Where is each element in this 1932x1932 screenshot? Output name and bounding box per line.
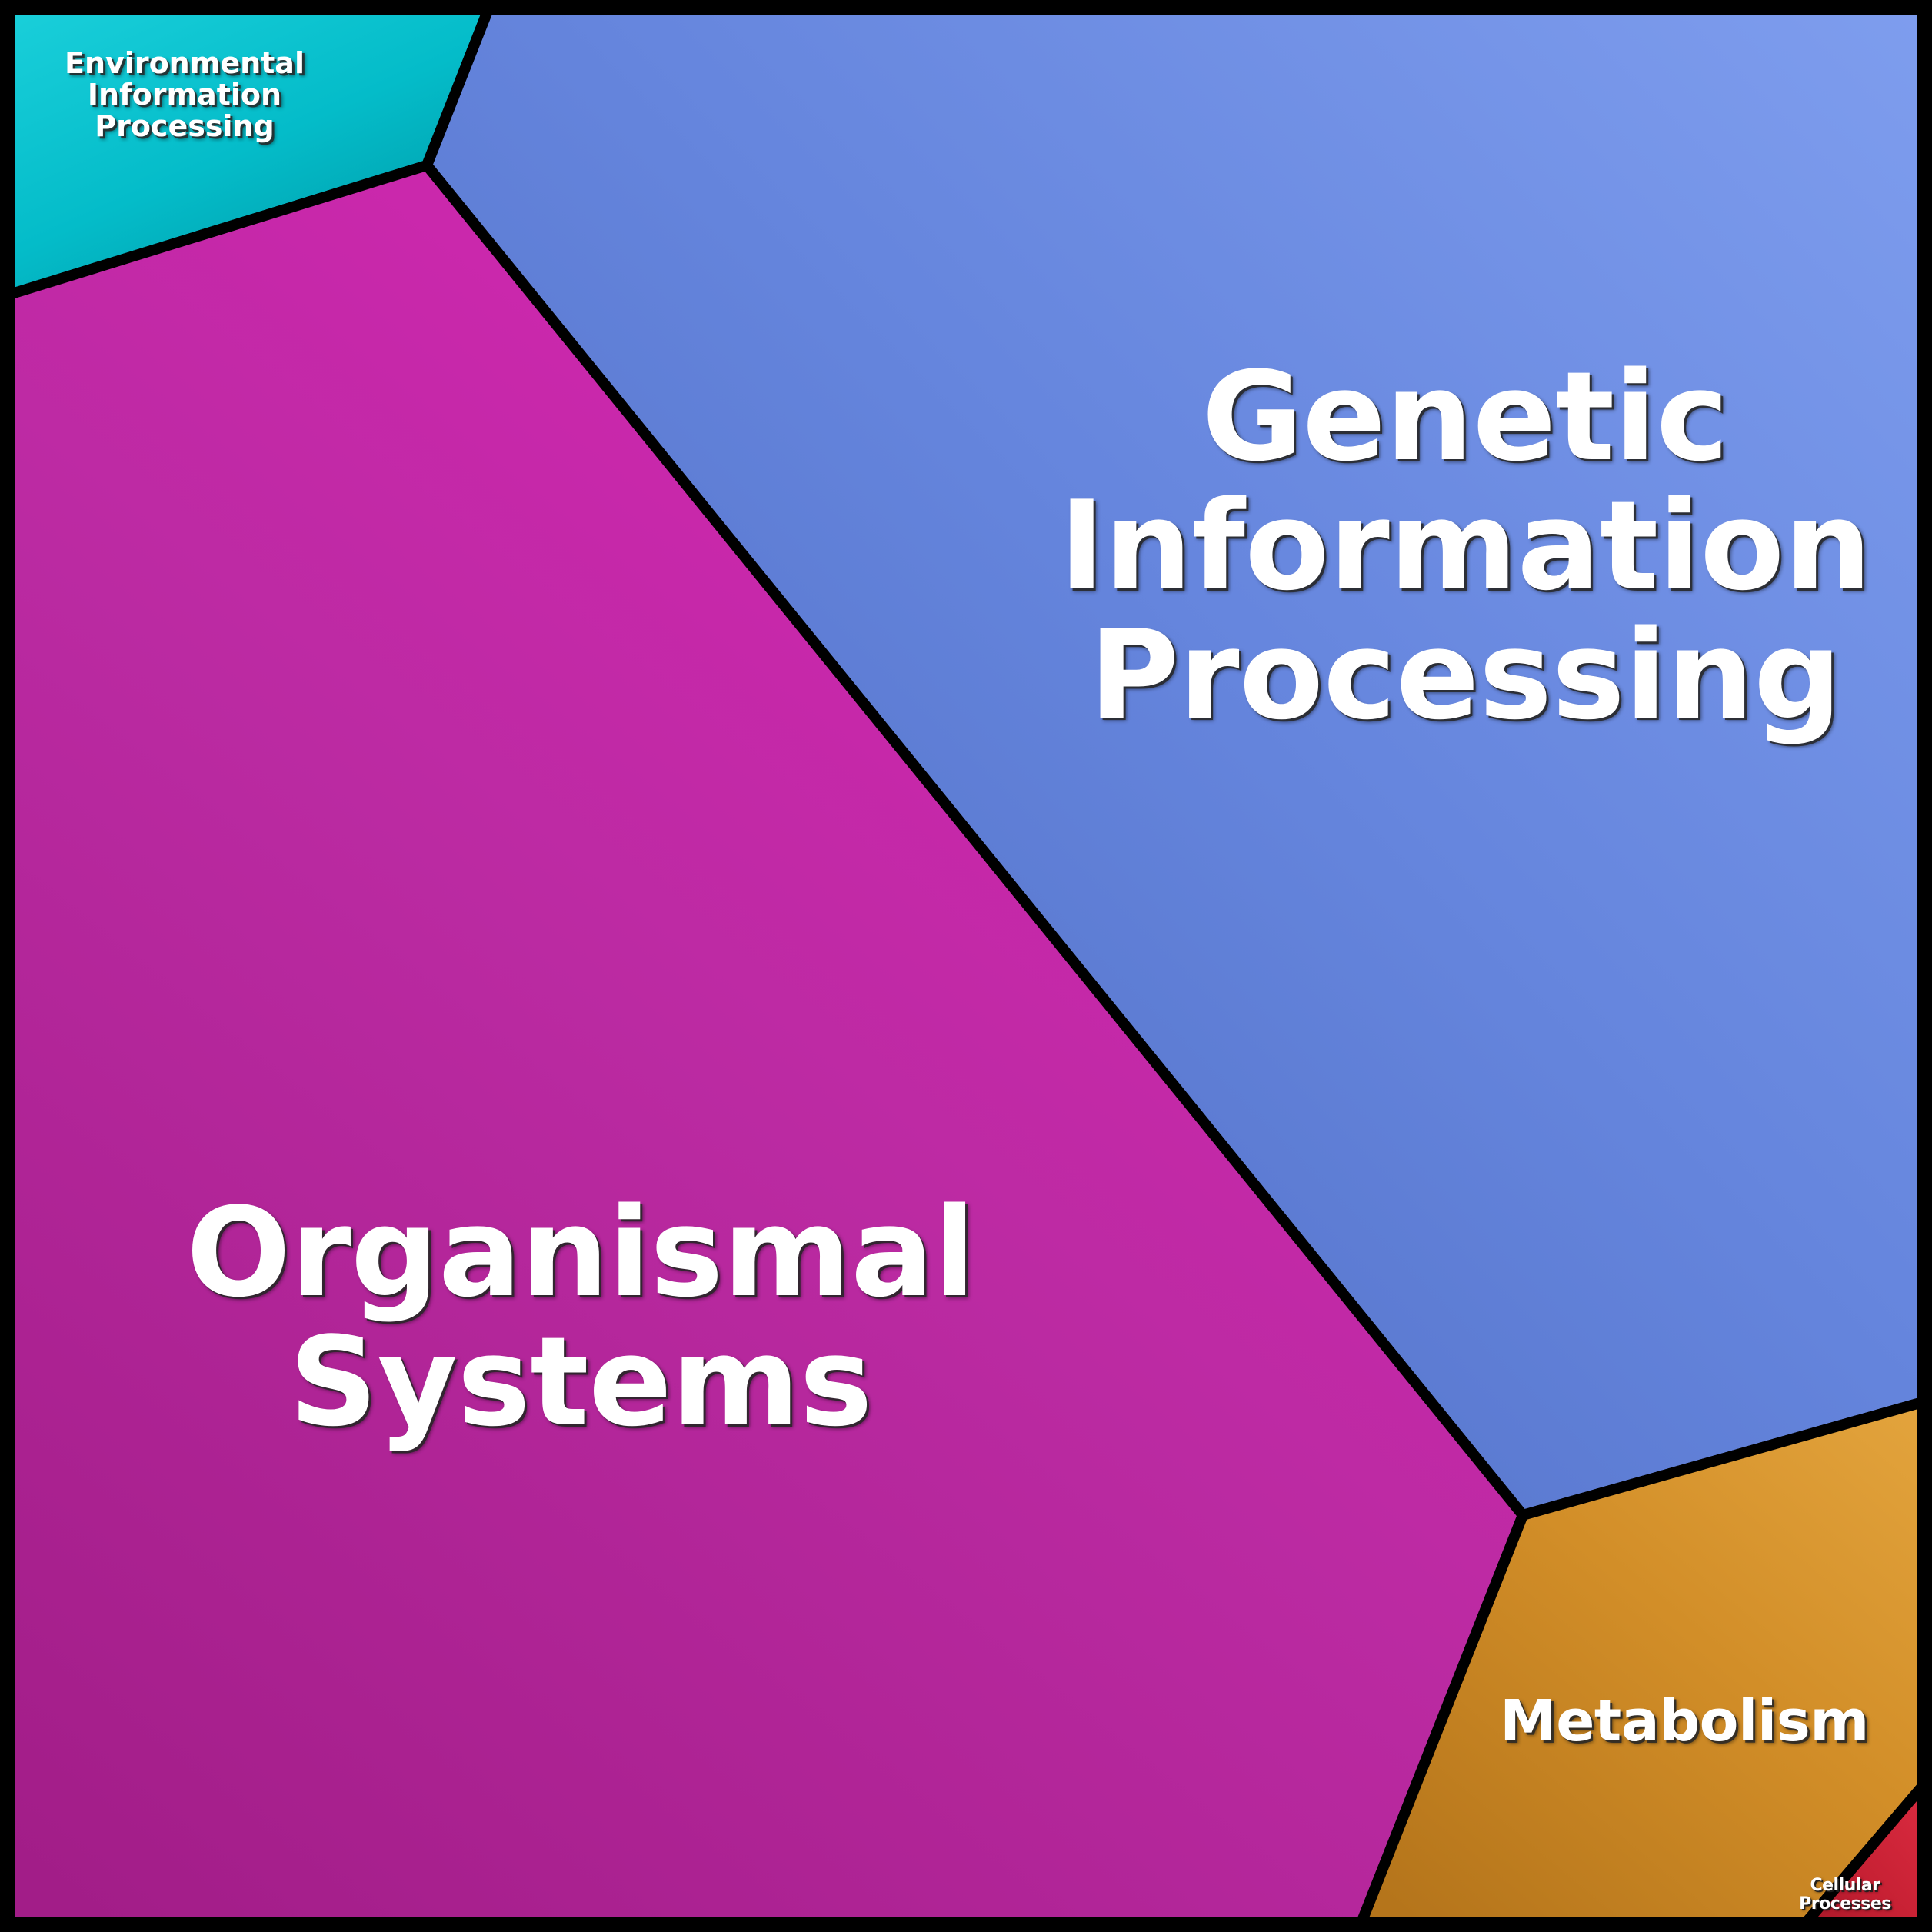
voronoi-treemap-figure: Environmental Information Processing Gen… xyxy=(0,0,1932,1932)
voronoi-diagram-canvas xyxy=(0,0,1932,1932)
